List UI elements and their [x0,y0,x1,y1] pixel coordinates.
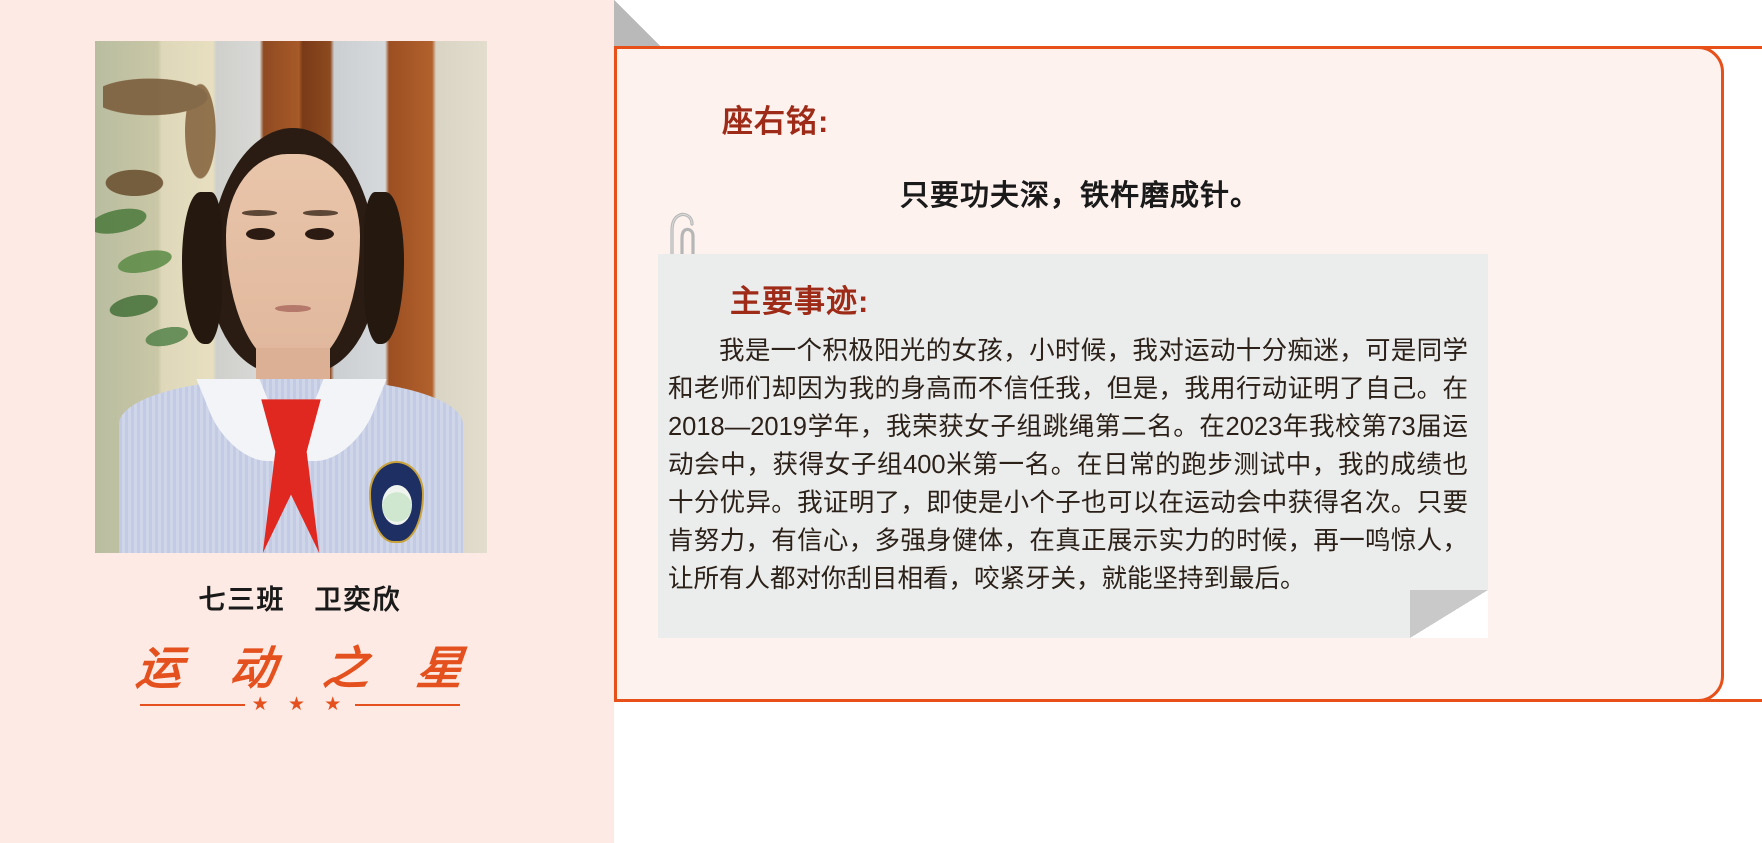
divider-bar-left [140,704,245,706]
divider-bar-right [355,704,460,706]
deeds-label: 主要事迹: [730,276,869,321]
portrait-mouth [275,305,310,312]
portrait-brow-right [303,210,338,216]
award-poster: 七三班 卫奕欣 运 动 之 星 ★ ★ ★ 座右铭: 只要功夫深，铁杵磨成针。 … [0,0,1762,843]
page-corner-fold-icon [614,0,660,46]
card-bottom-rule [614,699,1762,702]
motto-text: 只要功夫深，铁杵磨成针。 [900,172,1260,214]
card-top-rule [614,46,1762,49]
student-name: 七三班 卫奕欣 [0,578,600,617]
student-photo [95,41,487,553]
panel-edge-sliver [600,0,614,843]
deeds-corner-fold-icon [1410,590,1488,638]
left-panel: 七三班 卫奕欣 运 动 之 星 ★ ★ ★ [0,0,600,843]
deeds-box: 主要事迹: 我是一个积极阳光的女孩，小时候，我对运动十分痴迷，可是同学和老师们却… [658,254,1488,638]
motto-label: 座右铭: [722,96,829,141]
portrait-brow-left [242,210,277,216]
award-title: 运 动 之 星 [0,632,603,698]
right-panel: 座右铭: 只要功夫深，铁杵磨成针。 主要事迹: 我是一个积极阳光的女孩，小时候，… [600,0,1762,843]
deeds-body-text: 我是一个积极阳光的女孩，小时候，我对运动十分痴迷，可是同学和老师们却因为我的身高… [668,332,1468,598]
three-stars-icon: ★ ★ ★ [245,695,356,714]
award-divider: ★ ★ ★ [0,695,600,714]
